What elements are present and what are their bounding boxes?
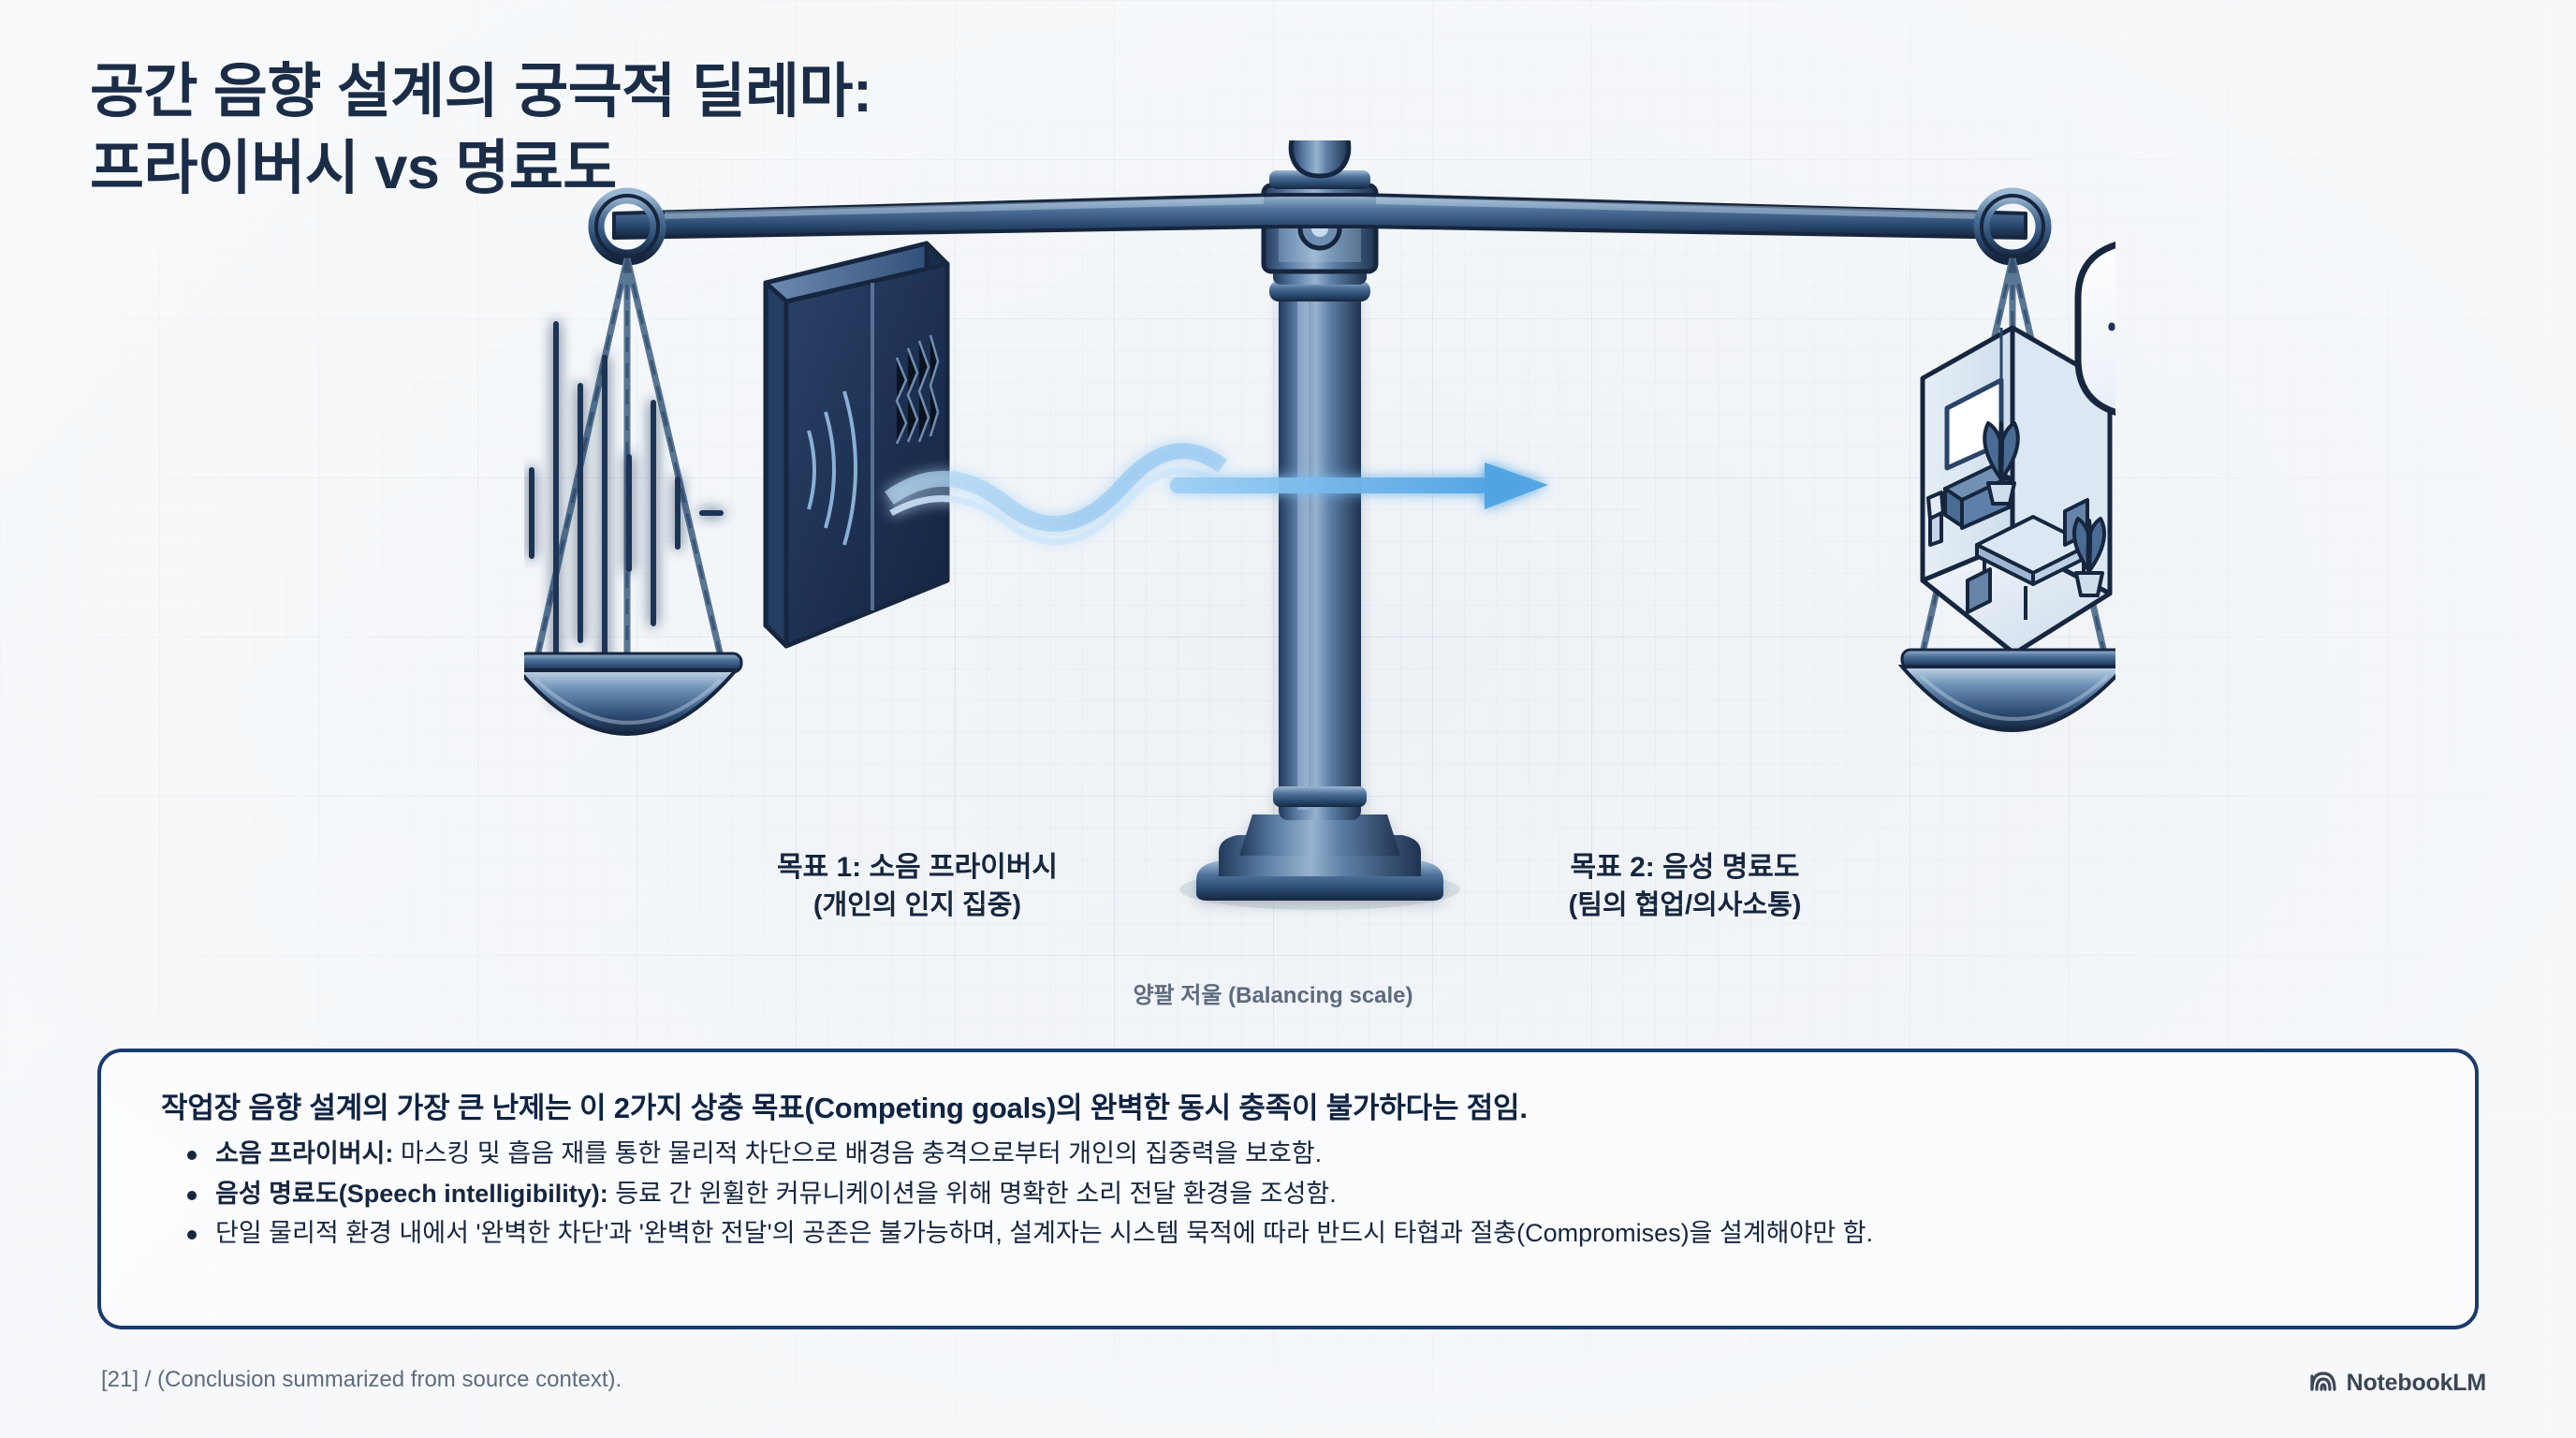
potted-plant-icon (2074, 519, 2104, 595)
right-goal-title: 목표 2: 음성 명료도 (1423, 849, 1947, 888)
scale-pan-right (1902, 650, 2115, 730)
acoustic-barrier-panel-icon (766, 243, 947, 646)
summary-heading: 작업장 음향 설계의 가장 큰 난제는 이 2가지 상충 목표(Competin… (161, 1084, 2432, 1126)
scale-pan-left (524, 653, 741, 734)
bullet-2-strong: 음성 명료도(Speech intelligibility): (215, 1180, 608, 1208)
scale-stand (1179, 290, 1460, 910)
illustration-caption: 양팔 저울 (Balancing scale) (1011, 976, 1535, 1009)
bullet-1-rest: 마스킹 및 흡음 재를 통한 물리적 차단으로 배경음 충격으로부터 개인의 집… (393, 1139, 1322, 1167)
bullet-2-rest: 등료 간 윈휠한 커뮤니케이션을 위해 명확한 소리 전달 환경을 조성함. (608, 1180, 1337, 1208)
right-goal-label: 목표 2: 음성 명료도 (팀의 협업/의사소통) (1423, 849, 1947, 924)
notebooklm-branding: NotebookLM (2309, 1369, 2486, 1398)
bullet-1-strong: 소음 프라이버시: (215, 1139, 393, 1167)
notebooklm-logo-icon (2309, 1369, 2337, 1398)
lamp-icon (1928, 492, 1943, 545)
page-title: 공간 음향 설계의 궁극적 딜레마: 프라이버시 vs 명료도 (90, 54, 1494, 208)
right-goal-subtitle: (팀의 협업/의사소통) (1423, 888, 1947, 924)
notebooklm-label: NotebookLM (2347, 1370, 2486, 1397)
title-line-2: 프라이버시 vs 명료도 (90, 131, 1494, 208)
noise-waveform-icon (524, 324, 721, 702)
source-footnote: [21] / (Conclusion summarized from sourc… (101, 1367, 622, 1393)
summary-callout-box: 작업장 음향 설계의 가장 큰 난제는 이 2가지 상충 목표(Competin… (97, 1049, 2479, 1329)
left-goal-label: 목표 1: 소음 프라이버시 (개인의 인지 집중) (655, 849, 1179, 924)
list-item: 소음 프라이버시: 마스킹 및 흡음 재를 통한 물리적 차단으로 배경음 충격… (183, 1134, 2432, 1174)
list-item: 단일 물리적 환경 내에서 '완벽한 차단'과 '완벽한 전달'의 공존은 불가… (183, 1213, 2432, 1254)
title-line-1: 공간 음향 설계의 궁극적 딜레마: (90, 54, 1494, 131)
slide-canvas: 공간 음향 설계의 궁극적 딜레마: 프라이버시 vs 명료도 (0, 0, 2576, 1438)
left-goal-subtitle: (개인의 인지 집중) (655, 888, 1179, 924)
left-goal-title: 목표 1: 소음 프라이버시 (655, 849, 1179, 888)
list-item: 음성 명료도(Speech intelligibility): 등료 간 윈휠한… (183, 1174, 2432, 1214)
bullet-3-rest: 단일 물리적 환경 내에서 '완벽한 차단'과 '완벽한 전달'의 공존은 불가… (215, 1219, 1873, 1247)
summary-bullet-list: 소음 프라이버시: 마스킹 및 흡음 재를 통한 물리적 차단으로 배경음 충격… (183, 1134, 2432, 1254)
